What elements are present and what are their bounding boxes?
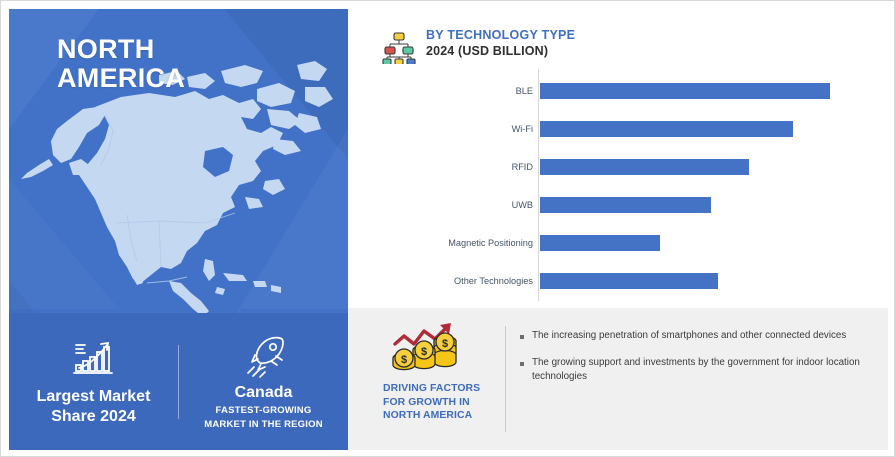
infographic-canvas: NORTH AMERICA [0, 0, 895, 457]
driving-factors-label-line3: NORTH AMERICA [383, 409, 480, 423]
bar-category-label: UWB [415, 200, 538, 210]
region-title-line2: AMERICA [57, 64, 185, 93]
chart-bar-row: BLE [415, 83, 883, 99]
chart-bar-row: Wi-Fi [415, 121, 883, 137]
stat-country-name: Canada [235, 383, 293, 403]
list-item: The growing support and investments by t… [520, 356, 868, 384]
stat-title-line2: Share 2024 [51, 407, 136, 427]
bar-rfid [540, 159, 749, 175]
stat-largest-market-share: Largest Market Share 2024 [9, 336, 178, 427]
chart-bar-row: Magnetic Positioning [415, 235, 883, 251]
bar-wifi [540, 121, 793, 137]
svg-text:$: $ [442, 338, 448, 350]
stat-caption-line2: MARKET IN THE REGION [204, 419, 323, 431]
bullet-text: The growing support and investments by t… [532, 356, 868, 384]
chart-value-axis [538, 69, 539, 301]
chart-bar-row: RFID [415, 159, 883, 175]
bar-category-label: Magnetic Positioning [415, 238, 538, 248]
bar-category-label: RFID [415, 162, 538, 172]
bar-category-label: BLE [415, 86, 538, 96]
bar-category-label: Other Technologies [415, 276, 538, 286]
footer-divider [505, 326, 506, 432]
org-chart-icon [382, 30, 416, 64]
chart-subtitle: 2024 (USD BILLION) [426, 44, 575, 60]
chart-title: BY TECHNOLOGY TYPE [426, 28, 575, 44]
bar-magnetic-positioning [540, 235, 660, 251]
chart-header: BY TECHNOLOGY TYPE 2024 (USD BILLION) [382, 28, 575, 64]
svg-text:$: $ [421, 346, 427, 358]
stat-caption-line1: FASTEST-GROWING [216, 405, 312, 417]
chart-bar-row: UWB [415, 197, 883, 213]
stat-fastest-growing-country: Canada FASTEST-GROWING MARKET IN THE REG… [179, 332, 348, 432]
bullet-square-icon [520, 335, 524, 339]
north-america-map [9, 55, 348, 321]
region-stats-band: Largest Market Share 2024 [9, 313, 348, 450]
coins-growth-arrow-icon: $ $ $ [391, 322, 459, 376]
region-title-line1: NORTH [57, 35, 185, 64]
driving-factors-heading: $ $ $ D [383, 322, 487, 423]
driving-factors-list: The increasing penetration of smartphone… [520, 329, 868, 397]
svg-text:$: $ [401, 354, 407, 366]
bar-category-label: Wi-Fi [415, 124, 538, 134]
bullet-text: The increasing penetration of smartphone… [532, 329, 846, 343]
bar-ble [540, 83, 830, 99]
bullet-square-icon [520, 362, 524, 366]
driving-factors-label-line2: FOR GROWTH IN [383, 396, 480, 410]
driving-factors-panel: $ $ $ D [348, 308, 888, 450]
stat-title-line1: Largest Market [37, 387, 151, 407]
technology-type-bar-chart: BLE Wi-Fi RFID UWB Magnetic Positioning … [415, 69, 883, 301]
bar-other-technologies [540, 273, 718, 289]
bar-uwb [540, 197, 711, 213]
rocket-icon [241, 332, 287, 378]
chart-bar-row: Other Technologies [415, 273, 883, 289]
north-america-map-icon [9, 55, 348, 321]
bar-chart-growth-icon [71, 336, 117, 382]
driving-factors-label-line1: DRIVING FACTORS [383, 382, 480, 396]
list-item: The increasing penetration of smartphone… [520, 329, 868, 343]
region-panel: NORTH AMERICA [9, 9, 348, 450]
region-title: NORTH AMERICA [57, 35, 185, 93]
